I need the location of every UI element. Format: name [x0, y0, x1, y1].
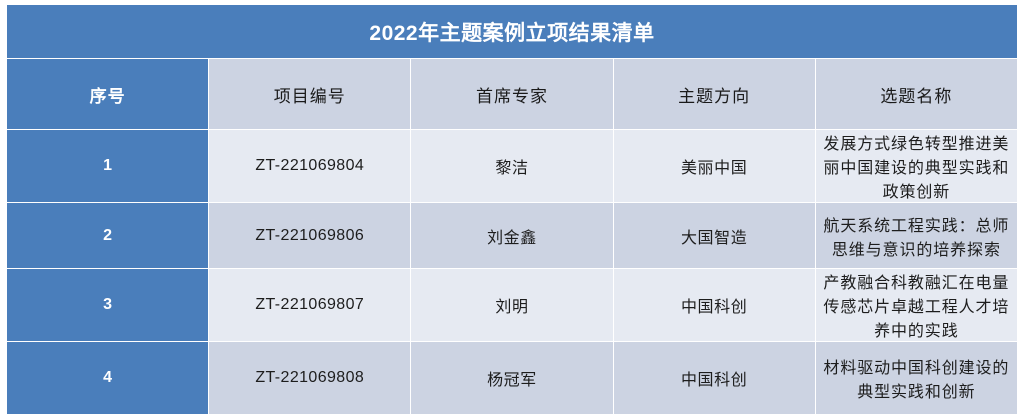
table-row: 1 ZT-221069804 黎洁 美丽中国 发展方式绿色转型推进美丽中国建设的…: [7, 130, 1017, 202]
cell-project-code: ZT-221069807: [209, 269, 410, 341]
column-header-project-code: 项目编号: [209, 59, 410, 129]
table-row: 3 ZT-221069807 刘明 中国科创 产教融合科教融汇在电量传感芯片卓越…: [7, 269, 1017, 341]
cell-index: 4: [7, 342, 208, 414]
cell-theme-direction: 中国科创: [614, 342, 815, 414]
cell-topic-name: 产教融合科教融汇在电量传感芯片卓越工程人才培养中的实践: [816, 269, 1017, 341]
document-title: 2022年主题案例立项结果清单: [7, 5, 1017, 58]
cell-index: 2: [7, 203, 208, 268]
project-approval-table: 2022年主题案例立项结果清单 序号 项目编号 首席专家 主题方向 选题名称 1…: [6, 4, 1018, 415]
table-row: 2 ZT-221069806 刘金鑫 大国智造 航天系统工程实践：总师思维与意识…: [7, 203, 1017, 268]
cell-project-code: ZT-221069804: [209, 130, 410, 202]
cell-index: 3: [7, 269, 208, 341]
cell-chief-expert: 刘明: [411, 269, 612, 341]
title-row: 2022年主题案例立项结果清单: [7, 5, 1017, 58]
cell-topic-name: 材料驱动中国科创建设的典型实践和创新: [816, 342, 1017, 414]
cell-project-code: ZT-221069808: [209, 342, 410, 414]
cell-chief-expert: 黎洁: [411, 130, 612, 202]
cell-topic-name: 航天系统工程实践：总师思维与意识的培养探索: [816, 203, 1017, 268]
table-row: 4 ZT-221069808 杨冠军 中国科创 材料驱动中国科创建设的典型实践和…: [7, 342, 1017, 414]
cell-theme-direction: 美丽中国: [614, 130, 815, 202]
cell-topic-name: 发展方式绿色转型推进美丽中国建设的典型实践和政策创新: [816, 130, 1017, 202]
cell-theme-direction: 中国科创: [614, 269, 815, 341]
column-header-theme-direction: 主题方向: [614, 59, 815, 129]
cell-theme-direction: 大国智造: [614, 203, 815, 268]
cell-chief-expert: 杨冠军: [411, 342, 612, 414]
table-header-row: 序号 项目编号 首席专家 主题方向 选题名称: [7, 59, 1017, 129]
column-header-topic-name: 选题名称: [816, 59, 1017, 129]
cell-project-code: ZT-221069806: [209, 203, 410, 268]
cell-chief-expert: 刘金鑫: [411, 203, 612, 268]
column-header-chief-expert: 首席专家: [411, 59, 612, 129]
result-list-sheet: 2022年主题案例立项结果清单 序号 项目编号 首席专家 主题方向 选题名称 1…: [0, 0, 1024, 408]
cell-index: 1: [7, 130, 208, 202]
column-header-index: 序号: [7, 59, 208, 129]
